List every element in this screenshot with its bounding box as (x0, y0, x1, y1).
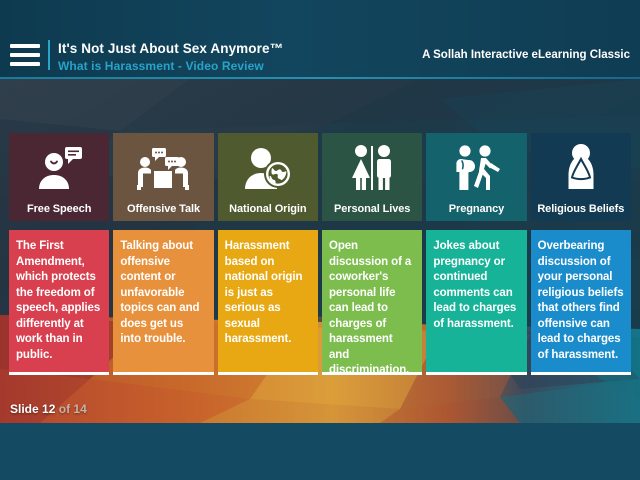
card-body: Talking about offensive content or unfav… (113, 230, 213, 375)
card-header: Free Speech (9, 133, 109, 221)
card-body: Jokes about pregnancy or continued comme… (426, 230, 526, 375)
card-personal-lives[interactable]: Personal Lives Open discussion of a cowo… (322, 133, 422, 375)
card-label: Pregnancy (449, 203, 504, 216)
card-header: Offensive Talk (113, 133, 213, 221)
card-body: Overbearing discussion of your personal … (531, 230, 631, 375)
card-label: Offensive Talk (127, 203, 200, 216)
card-text: Talking about offensive content or unfav… (120, 239, 206, 348)
card-text: Open discussion of a coworker's personal… (329, 239, 415, 375)
header-divider (48, 40, 50, 70)
card-header: National Origin (218, 133, 318, 221)
current-slide-number: 12 (42, 402, 55, 416)
card-spacer (218, 221, 318, 230)
card-spacer (426, 221, 526, 230)
card-religious-beliefs[interactable]: Religious Beliefs Overbearing discussion… (531, 133, 631, 375)
two-people-table-talking-icon (113, 139, 213, 197)
card-spacer (322, 221, 422, 230)
app-header: It's Not Just About Sex Anymore™ What is… (0, 0, 640, 79)
brand-label: A Sollah Interactive eLearning Classic (422, 49, 630, 61)
card-text: Overbearing discussion of your personal … (538, 239, 624, 363)
card-spacer (531, 221, 631, 230)
card-spacer (9, 221, 109, 230)
person-speech-bubble-icon (9, 139, 109, 197)
bottom-bar (0, 423, 640, 480)
card-label: Religious Beliefs (537, 203, 624, 216)
restroom-man-woman-icon (322, 139, 422, 197)
card-body: The First Amendment, which protects the … (9, 230, 109, 375)
card-pregnancy[interactable]: Pregnancy Jokes about pregnancy or conti… (426, 133, 526, 375)
card-text: Harassment based on national origin is j… (225, 239, 311, 348)
slide-counter: Slide 12 of 14 (10, 402, 87, 416)
card-free-speech[interactable]: Free Speech The First Amendment, which p… (9, 133, 109, 375)
course-title: It's Not Just About Sex Anymore™ (58, 40, 283, 57)
card-label: Personal Lives (334, 203, 410, 216)
hamburger-menu-icon[interactable] (10, 44, 40, 66)
praying-person-icon (531, 139, 631, 197)
card-label: Free Speech (27, 203, 91, 216)
card-national-origin[interactable]: National Origin Harassment based on nati… (218, 133, 318, 375)
card-spacer (113, 221, 213, 230)
topic-card-row: Free Speech The First Amendment, which p… (9, 133, 631, 375)
card-label: National Origin (229, 203, 306, 216)
card-text: The First Amendment, which protects the … (16, 239, 102, 363)
of-word: of (59, 402, 70, 416)
slide-stage: It's Not Just About Sex Anymore™ What is… (0, 0, 640, 480)
card-body: Open discussion of a coworker's personal… (322, 230, 422, 375)
card-header: Personal Lives (322, 133, 422, 221)
total-slide-number: 14 (73, 402, 86, 416)
module-subtitle: What is Harassment - Video Review (58, 58, 283, 74)
slide-word: Slide (10, 402, 39, 416)
header-titles: It's Not Just About Sex Anymore™ What is… (58, 40, 283, 74)
pregnant-woman-walking-icon (426, 139, 526, 197)
card-text: Jokes about pregnancy or continued comme… (433, 239, 519, 332)
card-header: Pregnancy (426, 133, 526, 221)
person-globe-icon (218, 139, 318, 197)
card-body: Harassment based on national origin is j… (218, 230, 318, 375)
card-offensive-talk[interactable]: Offensive Talk Talking about offensive c… (113, 133, 213, 375)
card-header: Religious Beliefs (531, 133, 631, 221)
